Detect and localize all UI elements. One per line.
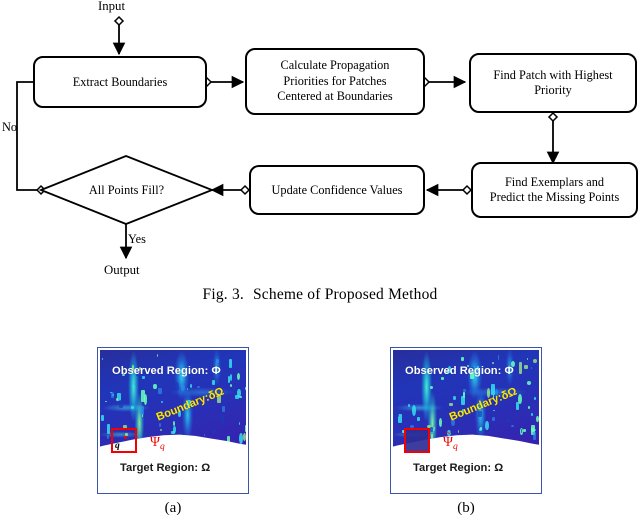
thermal-speck (212, 380, 215, 386)
thermal-speck (521, 429, 522, 433)
thermal-speck (239, 433, 243, 444)
node-calculate-priorities-label: Calculate Propagation Priorities for Pat… (277, 58, 392, 104)
patch-symbol-sub-b: q (453, 442, 458, 452)
thermal-speck (453, 396, 455, 400)
panel-b-image: Observed Region: Φ Boundary:δΩ ~Ψq Targe… (393, 350, 539, 491)
patch-box-b (404, 428, 430, 453)
patch-symbol-tilde-wrap-b: ~Ψ (443, 435, 453, 449)
node-find-patch-highest-priority[interactable]: Find Patch with Highest Priority (469, 53, 637, 113)
thermal-speck (126, 389, 128, 391)
thermal-speck (197, 386, 200, 388)
node-find-exemplars-label: Find Exemplars and Predict the Missing P… (490, 175, 619, 206)
flowchart-connectors (0, 0, 640, 300)
thermal-speck (245, 387, 246, 390)
tilde-icon: ~ (443, 428, 453, 439)
node-find-exemplars[interactable]: Find Exemplars and Predict the Missing P… (471, 162, 638, 218)
thermal-speck (216, 359, 220, 363)
line-2: Predict the Missing Points (490, 190, 619, 204)
thermal-speck (536, 416, 539, 423)
thermal-speck (233, 385, 235, 391)
thermal-speck (158, 388, 162, 394)
target-region-label-b: Target Region: Ω (413, 462, 503, 474)
thermal-speck (527, 358, 528, 360)
thermal-speck (523, 429, 526, 432)
node-update-confidence-values[interactable]: Update Confidence Values (249, 165, 425, 215)
node-calculate-priorities[interactable]: Calculate Propagation Priorities for Pat… (245, 48, 425, 115)
thermal-speck (140, 406, 144, 416)
thermal-speck (187, 388, 188, 390)
thermal-speck (157, 354, 158, 357)
thermal-speck (101, 415, 104, 421)
thermal-speck (492, 362, 495, 364)
thermal-speck (485, 421, 489, 430)
thermal-speck (243, 433, 246, 441)
thermal-speck (222, 406, 225, 413)
thermal-speck (229, 359, 233, 368)
thermal-speck (430, 386, 433, 389)
patch-symbol-a: Ψq (150, 435, 165, 453)
node-extract-boundaries[interactable]: Extract Boundaries (33, 56, 207, 108)
thermal-speck (492, 417, 496, 422)
thermal-speck (461, 357, 464, 361)
thermal-speck (107, 435, 109, 439)
thermal-speck (212, 430, 214, 435)
node-all-points-fill-label: All Points Fill? (89, 183, 164, 198)
thermal-speck (102, 358, 103, 360)
node-all-points-fill[interactable]: All Points Fill? (41, 156, 212, 224)
node-update-confidence-label: Update Confidence Values (272, 183, 403, 198)
figure-caption-text: Scheme of Proposed Method (253, 286, 438, 303)
thermal-speck (230, 374, 233, 381)
patch-symbol-sub-a: q (160, 442, 165, 452)
thermal-speck (533, 359, 537, 363)
thermal-speck (153, 384, 156, 389)
observed-region-label-a: Observed Region: Φ (112, 365, 221, 377)
thermal-speck (531, 367, 532, 370)
panel-a-sublabel: (a) (113, 500, 233, 517)
thermal-speck (141, 390, 145, 402)
thermal-speck (116, 398, 118, 401)
thermal-speck (467, 382, 470, 386)
thermal-speck (239, 422, 240, 425)
thermal-speck (507, 419, 511, 422)
thermal-speck (131, 406, 134, 409)
figure-caption: Fig. 3.Scheme of Proposed Method (0, 286, 640, 304)
thermal-speck (245, 425, 246, 431)
thermal-speck (190, 384, 192, 388)
thermal-speck (498, 355, 500, 361)
line-1: Find Exemplars and (505, 175, 604, 189)
thermal-speck (527, 381, 531, 384)
thermal-speck (511, 425, 514, 427)
thermal-speck (417, 417, 419, 422)
thermal-speck (439, 418, 442, 427)
thermal-speck (119, 400, 123, 408)
figure-caption-number: Fig. 3. (203, 286, 244, 303)
thermal-speck (493, 410, 494, 411)
line-2: Priorities for Patches (283, 74, 386, 88)
patch-center-dot-a (124, 436, 127, 439)
thermal-speck (408, 404, 410, 407)
observed-region-label-b: Observed Region: Φ (405, 365, 514, 377)
thermal-speck (237, 373, 240, 380)
target-region-label-a: Target Region: Ω (120, 462, 210, 474)
thermal-speck (107, 424, 110, 433)
panel-a: Observed Region: Φ Boundary:δΩ q Ψq Targ… (97, 347, 249, 494)
thermal-speck (235, 395, 239, 399)
thermal-speck (204, 434, 206, 436)
line-2: Priority (534, 83, 572, 97)
edge-label-no: No (2, 120, 17, 135)
thermal-speck (181, 385, 185, 391)
line-3: Centered at Boundaries (277, 89, 392, 103)
thermal-speck (449, 403, 452, 406)
thermal-speck (458, 430, 459, 434)
thermal-speck (534, 397, 536, 400)
thermal-speck (531, 413, 534, 416)
thermal-speck (441, 377, 445, 380)
thermal-speck (143, 432, 146, 437)
panel-b: Observed Region: Φ Boundary:δΩ ~Ψq Targe… (390, 347, 542, 494)
line-1: Calculate Propagation (281, 58, 390, 72)
thermal-speck (519, 362, 523, 373)
thermal-speck (111, 392, 113, 398)
thermal-speck (105, 401, 107, 402)
node-extract-boundaries-label: Extract Boundaries (73, 75, 168, 90)
thermal-speck (528, 406, 530, 408)
patch-point-label-a: q (115, 441, 120, 451)
edge-label-yes: Yes (128, 232, 146, 247)
thermal-speck (173, 426, 176, 432)
thermal-speck (524, 365, 528, 369)
thermal-speck (161, 401, 163, 403)
patch-symbol-base-a: Ψ (150, 434, 160, 449)
thermal-speck (221, 415, 224, 423)
terminal-output: Output (104, 263, 140, 278)
flowchart-diagram: Input Output No Yes Extract Boundaries C… (0, 0, 640, 300)
thermal-speck (160, 429, 161, 432)
thermal-speck (434, 427, 435, 428)
thermal-speck (533, 432, 536, 440)
patch-symbol-b: ~Ψq (443, 435, 458, 453)
line-1: Find Patch with Highest (493, 68, 612, 82)
node-find-patch-label: Find Patch with Highest Priority (493, 68, 612, 99)
patch-box-a: q (111, 428, 137, 453)
thermal-speck (412, 405, 416, 416)
thermal-speck (227, 436, 230, 442)
panel-a-image: Observed Region: Φ Boundary:δΩ q Ψq Targ… (100, 350, 246, 491)
panel-b-sublabel: (b) (406, 500, 526, 517)
thermal-speck (188, 359, 190, 361)
figure-page: Input Output No Yes Extract Boundaries C… (0, 0, 640, 521)
thermal-speck (430, 427, 433, 433)
thermal-speck (134, 383, 136, 385)
terminal-input: Input (98, 0, 125, 14)
thermal-speck (175, 382, 179, 391)
